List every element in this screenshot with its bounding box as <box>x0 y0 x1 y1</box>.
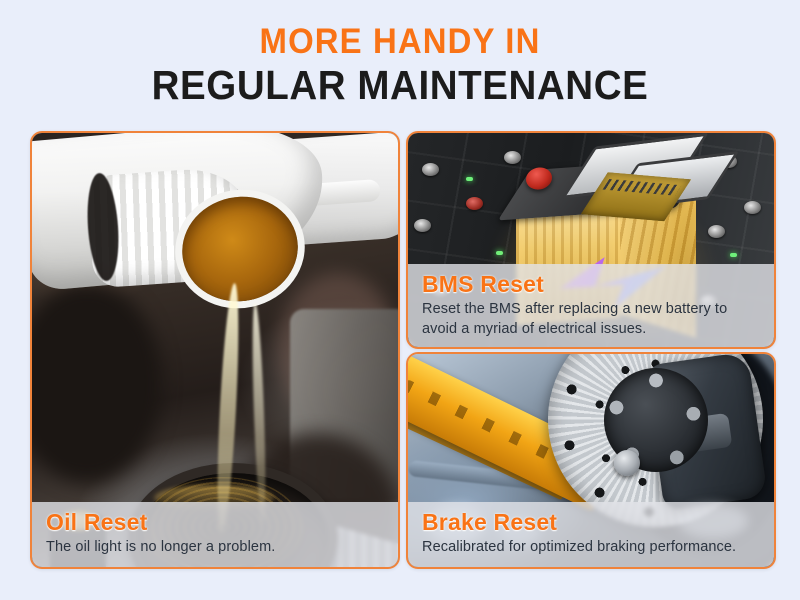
battery-terminal-icon <box>422 163 439 176</box>
brake-reset-title: Brake Reset <box>422 509 760 536</box>
battery-terminal-red-icon <box>466 197 483 210</box>
bms-reset-description: Reset the BMS after replacing a new batt… <box>422 300 760 339</box>
oil-reset-caption: Oil Reset The oil light is no longer a p… <box>32 502 398 567</box>
status-led-icon <box>730 253 737 257</box>
battery-terminal-icon <box>504 151 521 164</box>
status-led-icon <box>466 177 473 181</box>
headline-line-2: REGULAR MAINTENANCE <box>24 62 776 108</box>
poster-header: MORE HANDY IN REGULAR MAINTENANCE <box>0 22 800 108</box>
headline-line-1: MORE HANDY IN <box>24 22 776 62</box>
battery-terminal-icon <box>744 201 761 214</box>
promo-poster: MORE HANDY IN REGULAR MAINTENANCE Oil R <box>0 0 800 600</box>
brake-reset-caption: Brake Reset Recalibrated for optimized b… <box>408 502 774 567</box>
brake-reset-description: Recalibrated for optimized braking perfo… <box>422 538 760 557</box>
bms-reset-caption: BMS Reset Reset the BMS after replacing … <box>408 264 774 347</box>
caliper-bolt <box>614 450 640 476</box>
oil-reset-description: The oil light is no longer a problem. <box>46 538 384 557</box>
card-brake-reset[interactable]: Brake Reset Recalibrated for optimized b… <box>406 352 776 569</box>
card-oil-reset[interactable]: Oil Reset The oil light is no longer a p… <box>30 131 400 569</box>
bms-reset-title: BMS Reset <box>422 271 760 298</box>
card-bms-reset[interactable]: BMS Reset Reset the BMS after replacing … <box>406 131 776 349</box>
oil-reset-title: Oil Reset <box>46 509 384 536</box>
battery-terminal-icon <box>414 219 431 232</box>
